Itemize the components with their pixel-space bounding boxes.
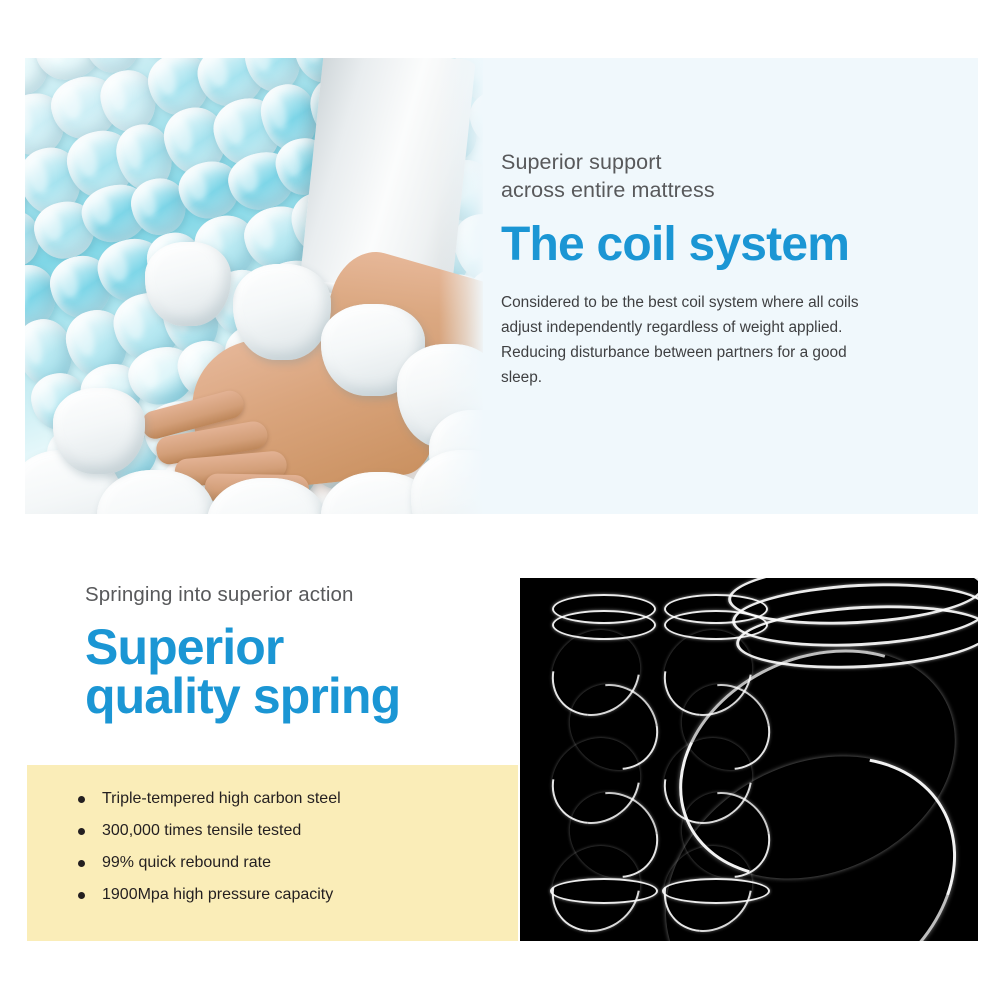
feature-label: 99% quick rebound rate	[102, 854, 271, 871]
top-text-block: Superior support across entire mattress …	[501, 148, 901, 391]
white-pocket-spring	[145, 242, 231, 326]
bottom-kicker: Springing into superior action	[85, 582, 505, 609]
top-headline: The coil system	[501, 221, 901, 269]
mattress-spring	[550, 578, 656, 941]
features-panel: Triple-tempered high carbon steel300,000…	[27, 765, 518, 941]
bullet-dot-icon	[78, 892, 85, 899]
metal-springs-photo	[520, 578, 978, 941]
feature-list-item: 1900Mpa high pressure capacity	[76, 887, 341, 903]
top-kicker: Superior support across entire mattress	[501, 148, 901, 205]
bullet-dot-icon	[78, 796, 85, 803]
white-pocket-spring	[53, 388, 145, 474]
top-kicker-line-2: across entire mattress	[501, 176, 901, 204]
feature-list-item: 99% quick rebound rate	[76, 855, 341, 871]
feature-label: 1900Mpa high pressure capacity	[102, 886, 333, 903]
white-pocket-spring	[233, 264, 331, 360]
bullet-dot-icon	[78, 828, 85, 835]
top-body-copy: Considered to be the best coil system wh…	[501, 291, 873, 391]
top-kicker-line-1: Superior support	[501, 148, 901, 176]
bottom-headline-line-1: Superior	[85, 623, 505, 673]
features-list: Triple-tempered high carbon steel300,000…	[76, 791, 341, 903]
feature-label: Triple-tempered high carbon steel	[102, 790, 341, 807]
bottom-headline-line-2: quality spring	[85, 672, 505, 722]
bottom-text-block: Springing into superior action Superior …	[85, 582, 505, 722]
bullet-dot-icon	[78, 860, 85, 867]
feature-list-item: 300,000 times tensile tested	[76, 823, 341, 839]
mattress-spring-closeup	[744, 578, 978, 941]
feature-list-item: Triple-tempered high carbon steel	[76, 791, 341, 807]
bottom-headline: Superior quality spring	[85, 623, 505, 722]
feature-label: 300,000 times tensile tested	[102, 822, 301, 839]
infographic-page: Superior support across entire mattress …	[0, 0, 1000, 1000]
mattress-coils-photo	[25, 58, 483, 514]
spring-bottom-coil	[550, 878, 658, 904]
